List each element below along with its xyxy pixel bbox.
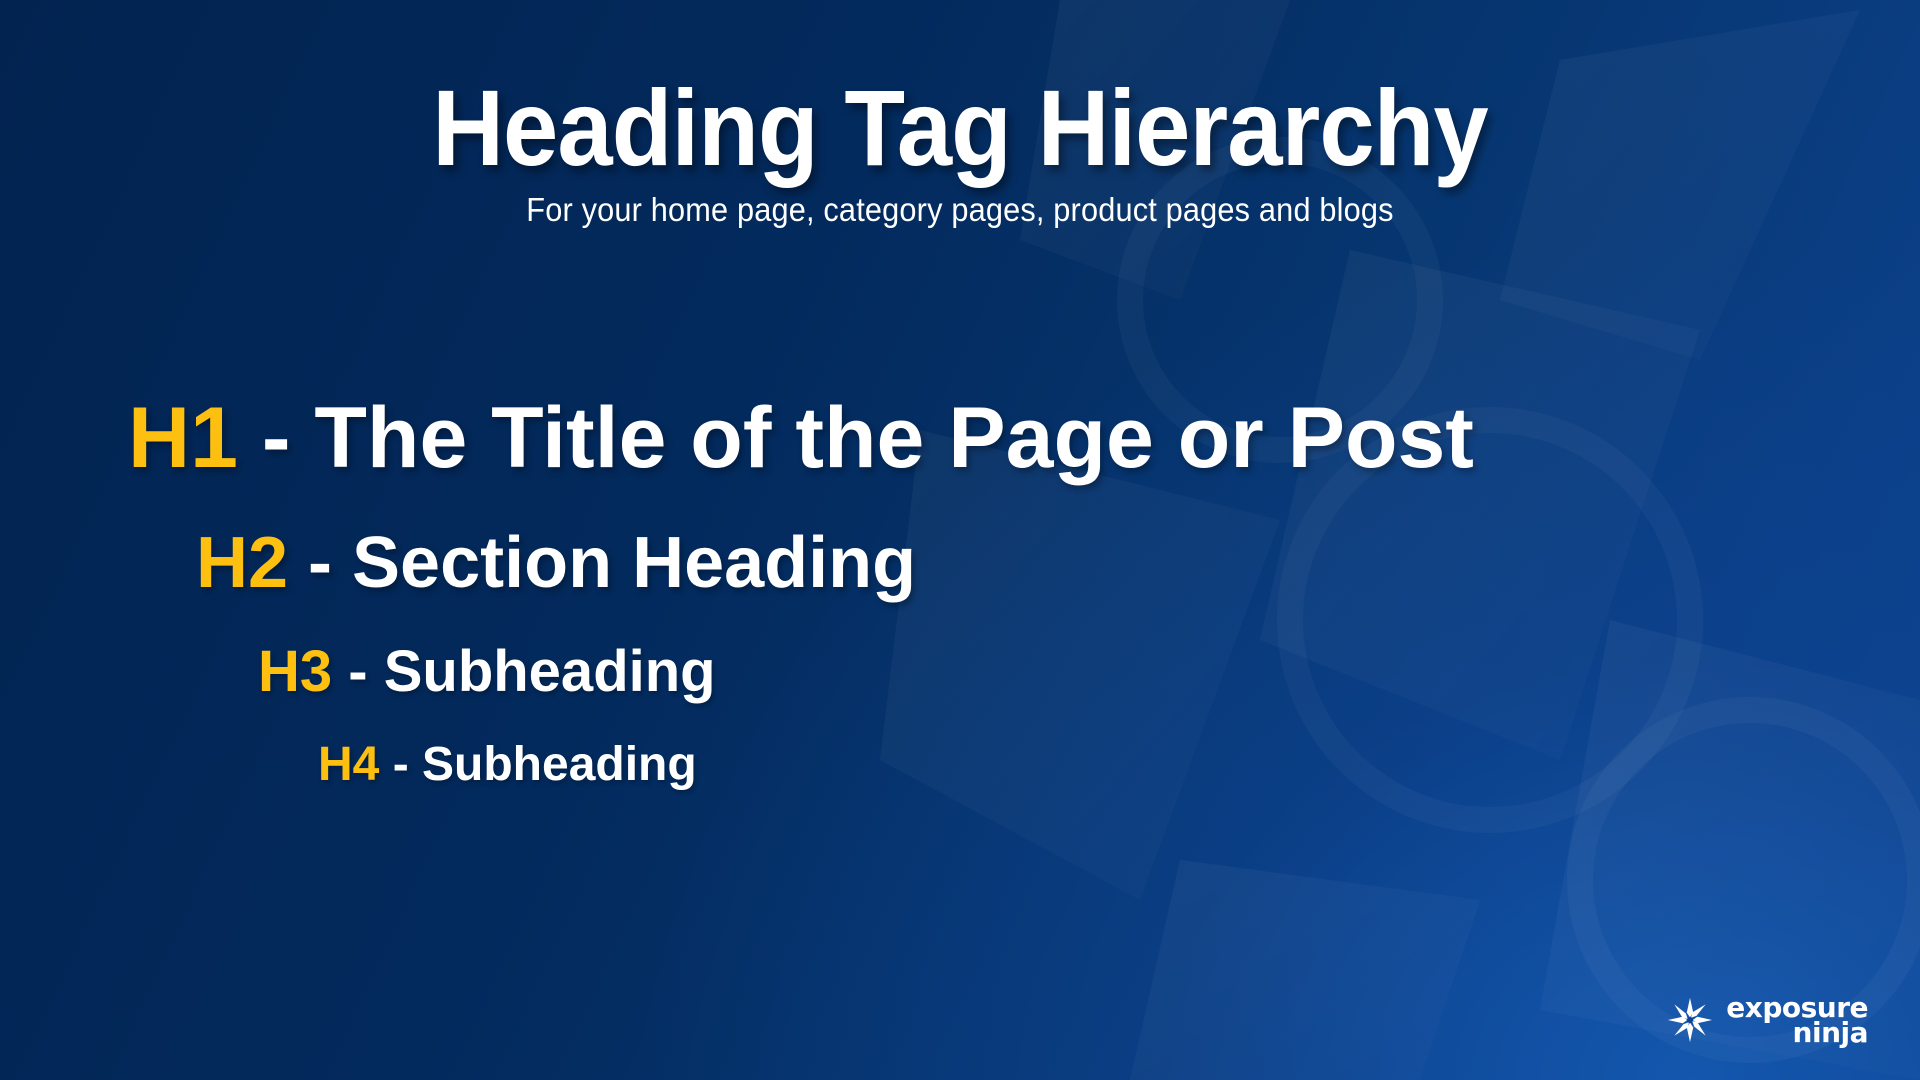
heading-level-h1: H1 - The Title of the Page or Post [128, 395, 1920, 481]
title-block: Heading Tag Hierarchy For your home page… [0, 72, 1920, 230]
brand-logo: exposure ninja [1667, 995, 1868, 1047]
heading-description-h3: Subheading [384, 639, 716, 704]
heading-tag-label-h1: H1 [128, 390, 238, 486]
shuriken-star-icon [1667, 997, 1713, 1043]
heading-level-h3: H3 - Subheading [258, 643, 1920, 701]
page-title: Heading Tag Hierarchy [77, 72, 1843, 184]
heading-dash-h2: - [288, 523, 352, 603]
heading-description-h2: Section Heading [352, 523, 916, 603]
heading-level-h2: H2 - Section Heading [196, 527, 1920, 599]
heading-hierarchy-list: H1 - The Title of the Page or Post H2 - … [0, 395, 1920, 789]
brand-name-line2: ninja [1793, 1020, 1868, 1046]
heading-dash-h1: - [238, 390, 314, 486]
page-subtitle: For your home page, category pages, prod… [67, 190, 1853, 230]
heading-level-h4: H4 - Subheading [318, 741, 1920, 789]
heading-tag-label-h3: H3 [258, 639, 332, 704]
heading-dash-h4: - [379, 738, 422, 791]
brand-wordmark: exposure ninja [1726, 995, 1868, 1047]
slide-canvas: Heading Tag Hierarchy For your home page… [0, 0, 1920, 1080]
heading-tag-label-h2: H2 [196, 523, 288, 603]
heading-tag-label-h4: H4 [318, 738, 379, 791]
heading-dash-h3: - [332, 639, 384, 704]
heading-description-h4: Subheading [422, 738, 697, 791]
slide-content: Heading Tag Hierarchy For your home page… [0, 0, 1920, 1080]
heading-description-h1: The Title of the Page or Post [314, 390, 1474, 486]
